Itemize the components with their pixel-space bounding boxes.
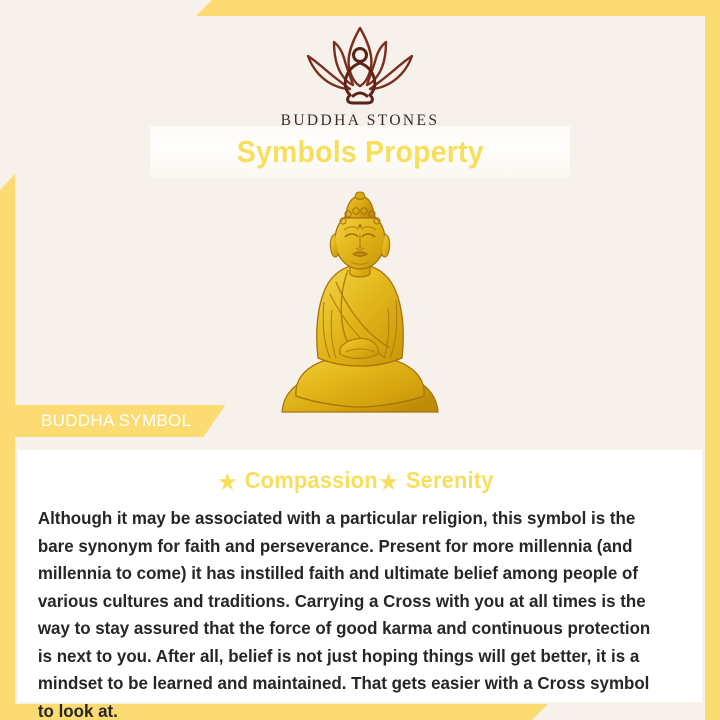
title-banner: Symbols Property	[150, 126, 570, 178]
content-paragraph: Although it may be associated with a par…	[30, 505, 674, 720]
star-icon-2: ★	[380, 471, 398, 494]
content-panel: ★ Compassion★ Serenity Although it may b…	[18, 450, 702, 702]
star-icon: ★	[218, 471, 236, 494]
page-title: Symbols Property	[236, 134, 483, 170]
symbol-banner-label: BUDDHA SYMBOL	[41, 411, 191, 431]
brand-logo: BUDDHA STONES	[0, 22, 720, 130]
golden-seated-buddha-illustration	[262, 182, 458, 422]
lotus-meditation-icon	[284, 22, 436, 108]
content-headline: ★ Compassion★ Serenity	[46, 467, 667, 494]
poster-canvas: BUDDHA STONES Symbols Property	[0, 0, 720, 720]
symbol-banner: BUDDHA SYMBOL	[15, 405, 225, 437]
headline-keyword-compassion: Compassion	[245, 467, 378, 493]
headline-keyword-serenity: Serenity	[406, 467, 494, 493]
hero-image-container	[0, 176, 720, 422]
decor-top-band	[196, 0, 720, 16]
